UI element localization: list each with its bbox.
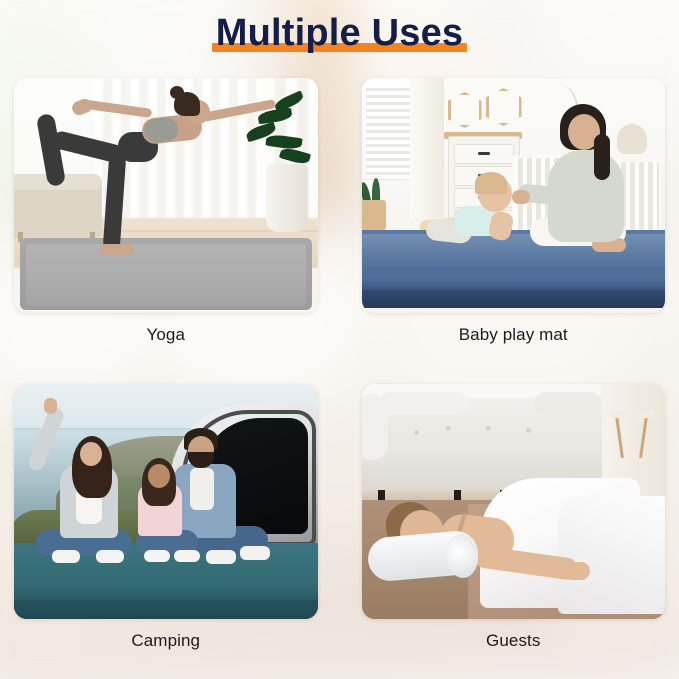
nursery-curtain [410, 78, 444, 218]
nursery-plant-pot [362, 200, 386, 234]
tile-caption-yoga: Yoga [146, 324, 185, 346]
plant-leaf [265, 134, 302, 151]
tile-caption-camping: Camping [131, 630, 200, 652]
woman-shoe [96, 550, 124, 563]
woman-head [80, 442, 102, 466]
sofa-back-cushion [378, 392, 468, 414]
page-title: Multiple Uses [216, 10, 464, 56]
side-table [609, 410, 655, 418]
person-standing-foot [100, 244, 134, 255]
sofa-tuft [446, 426, 451, 431]
use-case-tile-baby-play-mat: Baby play mat [362, 78, 666, 362]
man-shirt [190, 468, 214, 510]
table-lamp [617, 124, 647, 154]
sofa-bolster-cushion [534, 392, 602, 414]
girl-head [148, 464, 170, 488]
yoga-mat-surface [26, 244, 306, 306]
camping-mat-edge [14, 600, 318, 619]
sofa-tuft [414, 430, 419, 435]
sofa-tuft [526, 428, 531, 433]
sofa-tuft [486, 426, 491, 431]
use-case-tile-yoga: Yoga [14, 78, 318, 362]
header: Multiple Uses [0, 10, 679, 56]
girl-shoe [174, 550, 200, 562]
sofa-arm [362, 394, 388, 460]
photo-baby-play-mat [362, 78, 666, 313]
photo-yoga [14, 78, 318, 313]
man-shoe [206, 550, 236, 564]
plant-pot [266, 164, 308, 232]
sleeper-hand [564, 562, 590, 580]
tile-caption-baby-play-mat: Baby play mat [459, 324, 568, 346]
use-case-tile-guests: Guests [362, 384, 666, 668]
mother-ponytail [594, 134, 610, 180]
plant-leaf [278, 146, 310, 166]
photo-camping [14, 384, 318, 619]
woman-pointing-hand [44, 398, 57, 414]
duvet-fold [558, 496, 666, 614]
tile-caption-guests: Guests [486, 630, 540, 652]
play-mat-edge [362, 290, 666, 308]
girl-shoe [144, 550, 170, 562]
use-case-grid: Yoga [0, 78, 679, 668]
baby-hair [475, 172, 507, 194]
use-case-tile-camping: Camping [14, 384, 318, 668]
title-wrap: Multiple Uses [208, 10, 472, 56]
window-blinds [366, 84, 414, 180]
man-shoe [240, 546, 270, 560]
dresser-knob [478, 152, 490, 155]
mother-hand [512, 190, 530, 204]
photo-guests [362, 384, 666, 619]
person-hair-bun [170, 86, 184, 99]
woman-shoe [52, 550, 80, 563]
